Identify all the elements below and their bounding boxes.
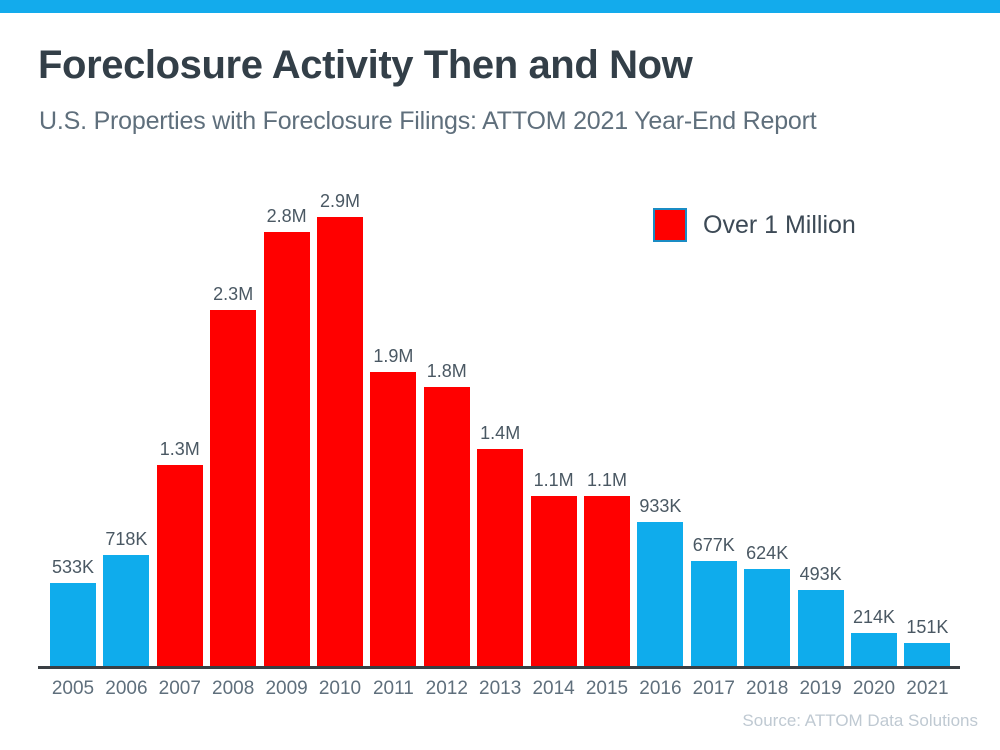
bar-2019[interactable] (798, 590, 844, 666)
bar-value-label-2012: 1.8M (427, 361, 467, 382)
bar-2011[interactable] (370, 372, 416, 666)
bar-2018[interactable] (744, 569, 790, 666)
bar-value-label-2011: 1.9M (373, 346, 413, 367)
bar-value-label-2017: 677K (693, 535, 735, 556)
x-axis-line (38, 666, 960, 669)
bar-value-label-2021: 151K (906, 617, 948, 638)
bar-2017[interactable] (691, 561, 737, 666)
x-tick-label-2017: 2017 (693, 678, 735, 700)
bar-group: 2.3M (210, 226, 256, 666)
bar-value-label-2019: 493K (800, 564, 842, 585)
bar-chart-plot-area: 533K2005718K20061.3M20072.3M20082.8M2009… (0, 0, 1000, 750)
bar-group: 2.9M (317, 133, 363, 666)
x-tick-label-2013: 2013 (479, 678, 521, 700)
bar-value-label-2020: 214K (853, 607, 895, 628)
bar-value-label-2014: 1.1M (534, 470, 574, 491)
bar-group: 624K (744, 485, 790, 666)
bar-value-label-2010: 2.9M (320, 191, 360, 212)
bar-value-label-2009: 2.8M (267, 206, 307, 227)
bar-group: 1.4M (477, 365, 523, 666)
bar-value-label-2015: 1.1M (587, 470, 627, 491)
bar-value-label-2013: 1.4M (480, 423, 520, 444)
bar-group: 1.1M (531, 412, 577, 666)
x-tick-label-2020: 2020 (853, 678, 895, 700)
bar-group: 1.3M (157, 381, 203, 666)
x-tick-label-2009: 2009 (265, 678, 307, 700)
bar-value-label-2006: 718K (105, 529, 147, 550)
x-tick-label-2021: 2021 (906, 678, 948, 700)
bar-value-label-2018: 624K (746, 543, 788, 564)
bar-value-label-2016: 933K (639, 496, 681, 517)
bar-2007[interactable] (157, 465, 203, 666)
bar-group: 1.8M (424, 303, 470, 666)
x-tick-label-2014: 2014 (532, 678, 574, 700)
x-tick-label-2005: 2005 (52, 678, 94, 700)
x-tick-label-2007: 2007 (159, 678, 201, 700)
bar-2009[interactable] (264, 232, 310, 666)
bar-2013[interactable] (477, 449, 523, 666)
bar-2010[interactable] (317, 217, 363, 666)
x-tick-label-2019: 2019 (799, 678, 841, 700)
bar-2012[interactable] (424, 387, 470, 666)
bar-2014[interactable] (531, 496, 577, 666)
bar-2020[interactable] (851, 633, 897, 666)
bar-group: 677K (691, 477, 737, 666)
x-tick-label-2010: 2010 (319, 678, 361, 700)
chart-page: Foreclosure Activity Then and Now U.S. P… (0, 0, 1000, 750)
bar-value-label-2008: 2.3M (213, 284, 253, 305)
bar-2021[interactable] (904, 643, 950, 666)
source-attribution: Source: ATTOM Data Solutions (742, 711, 978, 731)
x-tick-label-2015: 2015 (586, 678, 628, 700)
bar-group: 718K (103, 471, 149, 666)
x-tick-label-2018: 2018 (746, 678, 788, 700)
bar-group: 1.1M (584, 412, 630, 666)
bar-2015[interactable] (584, 496, 630, 666)
bar-group: 151K (904, 559, 950, 666)
bar-group: 1.9M (370, 288, 416, 666)
bar-2005[interactable] (50, 583, 96, 666)
bar-2008[interactable] (210, 310, 256, 666)
x-tick-label-2012: 2012 (426, 678, 468, 700)
bar-group: 2.8M (264, 148, 310, 666)
x-tick-label-2008: 2008 (212, 678, 254, 700)
bar-2016[interactable] (637, 522, 683, 666)
x-tick-label-2011: 2011 (373, 678, 414, 700)
bar-group: 933K (637, 438, 683, 666)
bar-value-label-2005: 533K (52, 557, 94, 578)
bar-value-label-2007: 1.3M (160, 439, 200, 460)
bar-group: 533K (50, 499, 96, 666)
x-tick-label-2006: 2006 (105, 678, 147, 700)
x-tick-label-2016: 2016 (639, 678, 681, 700)
bar-group: 214K (851, 549, 897, 666)
bar-group: 493K (798, 506, 844, 666)
bar-2006[interactable] (103, 555, 149, 666)
